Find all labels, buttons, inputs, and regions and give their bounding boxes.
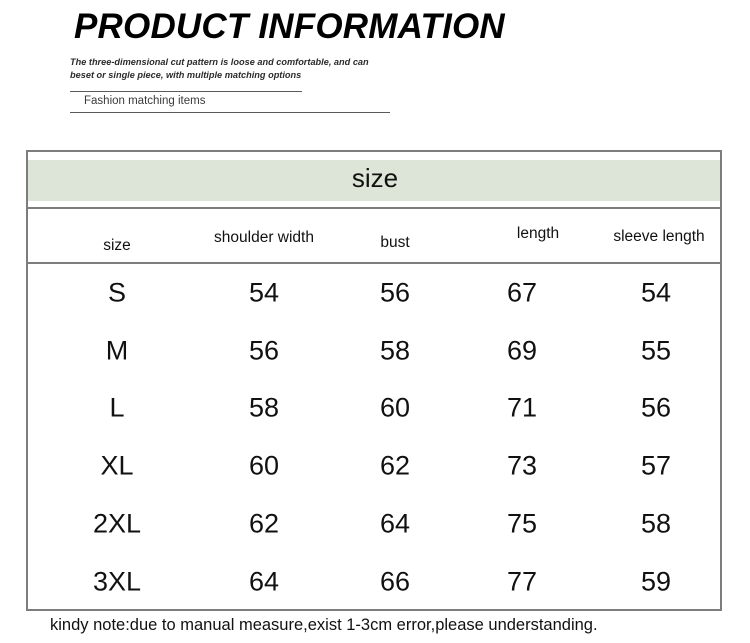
table-row: 3XL 64 66 77 59	[28, 553, 720, 611]
table-row: L 58 60 71 56	[28, 380, 720, 438]
cell-size: 3XL	[93, 568, 141, 595]
page-header: PRODUCT INFORMATION The three-dimensiona…	[0, 0, 750, 140]
cell-sleeve-length: 58	[641, 511, 671, 538]
column-header-bust: bust	[380, 234, 409, 252]
cell-shoulder-width: 60	[249, 453, 279, 480]
cell-bust: 60	[380, 395, 410, 422]
table-header-row: size shoulder width bust length sleeve l…	[28, 209, 720, 264]
cell-shoulder-width: 54	[249, 279, 279, 306]
cell-sleeve-length: 55	[641, 337, 671, 364]
cell-sleeve-length: 54	[641, 279, 671, 306]
product-description: The three-dimensional cut pattern is loo…	[70, 56, 370, 81]
cell-shoulder-width: 58	[249, 395, 279, 422]
cell-length: 75	[507, 511, 537, 538]
cell-size: M	[106, 337, 129, 364]
table-row: 2XL 62 64 75 58	[28, 495, 720, 553]
cell-shoulder-width: 56	[249, 337, 279, 364]
cell-length: 71	[507, 395, 537, 422]
cell-bust: 66	[380, 568, 410, 595]
table-body: S 54 56 67 54 M 56 58 69 55 L 58 60 71 5…	[28, 264, 720, 611]
cell-length: 77	[507, 568, 537, 595]
column-header-shoulder-width: shoulder width	[214, 229, 314, 247]
cell-shoulder-width: 62	[249, 511, 279, 538]
cell-bust: 62	[380, 453, 410, 480]
size-chart-table: size size shoulder width bust length sle…	[26, 150, 722, 611]
cell-sleeve-length: 59	[641, 568, 671, 595]
fashion-matching-items-label: Fashion matching items	[84, 93, 205, 109]
cell-size: S	[108, 279, 126, 306]
column-header-length: length	[517, 225, 559, 243]
cell-sleeve-length: 57	[641, 453, 671, 480]
table-banner: size	[28, 152, 720, 209]
table-row: XL 60 62 73 57	[28, 437, 720, 495]
cell-bust: 58	[380, 337, 410, 364]
table-row: S 54 56 67 54	[28, 264, 720, 322]
divider-bottom	[70, 112, 390, 113]
cell-size: L	[109, 395, 124, 422]
cell-size: 2XL	[93, 511, 141, 538]
cell-length: 73	[507, 453, 537, 480]
divider-top	[70, 91, 302, 92]
cell-bust: 56	[380, 279, 410, 306]
cell-length: 67	[507, 279, 537, 306]
cell-sleeve-length: 56	[641, 395, 671, 422]
table-row: M 56 58 69 55	[28, 322, 720, 380]
cell-size: XL	[100, 453, 133, 480]
cell-length: 69	[507, 337, 537, 364]
banner-title: size	[28, 152, 720, 207]
column-header-sleeve-length: sleeve length	[613, 228, 704, 246]
cell-bust: 64	[380, 511, 410, 538]
column-header-size: size	[103, 237, 131, 255]
page-title: PRODUCT INFORMATION	[74, 6, 505, 48]
measurement-disclaimer: kindy note:due to manual measure,exist 1…	[50, 616, 598, 635]
cell-shoulder-width: 64	[249, 568, 279, 595]
